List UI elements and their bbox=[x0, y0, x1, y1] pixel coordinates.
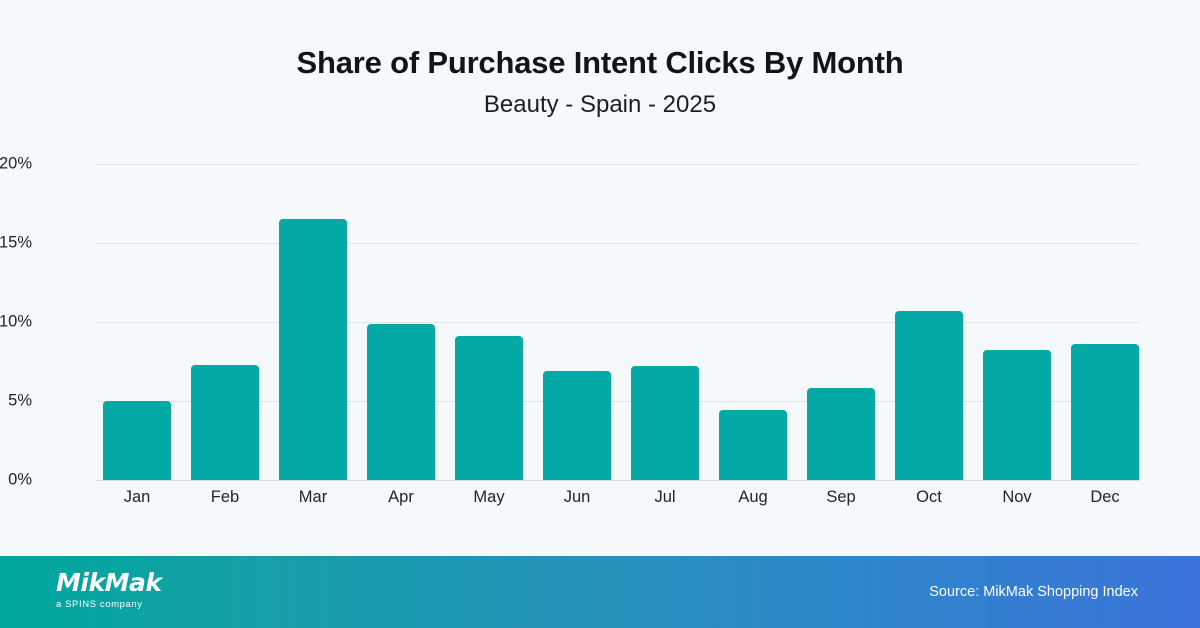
logo-wordmark: MikMak bbox=[56, 570, 161, 595]
bar-rect bbox=[103, 401, 171, 480]
chart-bar-oct[interactable] bbox=[895, 311, 963, 480]
chart-bar-mar[interactable] bbox=[279, 219, 347, 480]
chart-bar-nov[interactable] bbox=[983, 350, 1051, 480]
source-attribution: Source: MikMak Shopping Index bbox=[929, 556, 1138, 628]
x-axis-tick-label-oct: Oct bbox=[885, 488, 973, 507]
chart-bar-sep[interactable] bbox=[807, 388, 875, 480]
bar-rect bbox=[631, 366, 699, 480]
x-axis-tick-label-jan: Jan bbox=[93, 488, 181, 507]
chart-page: Share of Purchase Intent Clicks By Month… bbox=[0, 0, 1200, 628]
logo-tagline: a SPINS company bbox=[56, 600, 161, 610]
chart-bar-feb[interactable] bbox=[191, 365, 259, 480]
chart-bars: JanFebMarAprMayJunJulAugSepOctNovDec bbox=[0, 0, 1200, 556]
x-axis-tick-label-may: May bbox=[445, 488, 533, 507]
chart-bar-dec[interactable] bbox=[1071, 344, 1139, 480]
mikmak-logo: MikMak a SPINS company bbox=[56, 570, 161, 610]
chart-plot-area: 0%5%10%15%20% JanFebMarAprMayJunJulAugSe… bbox=[0, 0, 1200, 556]
x-axis-tick-label-nov: Nov bbox=[973, 488, 1061, 507]
chart-bar-apr[interactable] bbox=[367, 324, 435, 480]
bar-rect bbox=[895, 311, 963, 480]
x-axis-tick-label-jun: Jun bbox=[533, 488, 621, 507]
bar-rect bbox=[367, 324, 435, 480]
chart-footer: MikMak a SPINS company Source: MikMak Sh… bbox=[0, 556, 1200, 628]
chart-bar-jun[interactable] bbox=[543, 371, 611, 480]
bar-rect bbox=[807, 388, 875, 480]
x-axis-tick-label-dec: Dec bbox=[1061, 488, 1149, 507]
bar-rect bbox=[1071, 344, 1139, 480]
chart-bar-jul[interactable] bbox=[631, 366, 699, 480]
x-axis-tick-label-mar: Mar bbox=[269, 488, 357, 507]
chart-bar-aug[interactable] bbox=[719, 410, 787, 480]
bar-rect bbox=[455, 336, 523, 480]
x-axis-tick-label-apr: Apr bbox=[357, 488, 445, 507]
chart-bar-jan[interactable] bbox=[103, 401, 171, 480]
chart-bar-may[interactable] bbox=[455, 336, 523, 480]
x-axis-tick-label-sep: Sep bbox=[797, 488, 885, 507]
x-axis-tick-label-aug: Aug bbox=[709, 488, 797, 507]
bar-rect bbox=[719, 410, 787, 480]
bar-rect bbox=[543, 371, 611, 480]
bar-rect bbox=[279, 219, 347, 480]
x-axis-tick-label-feb: Feb bbox=[181, 488, 269, 507]
x-axis-tick-label-jul: Jul bbox=[621, 488, 709, 507]
bar-rect bbox=[983, 350, 1051, 480]
bar-rect bbox=[191, 365, 259, 480]
